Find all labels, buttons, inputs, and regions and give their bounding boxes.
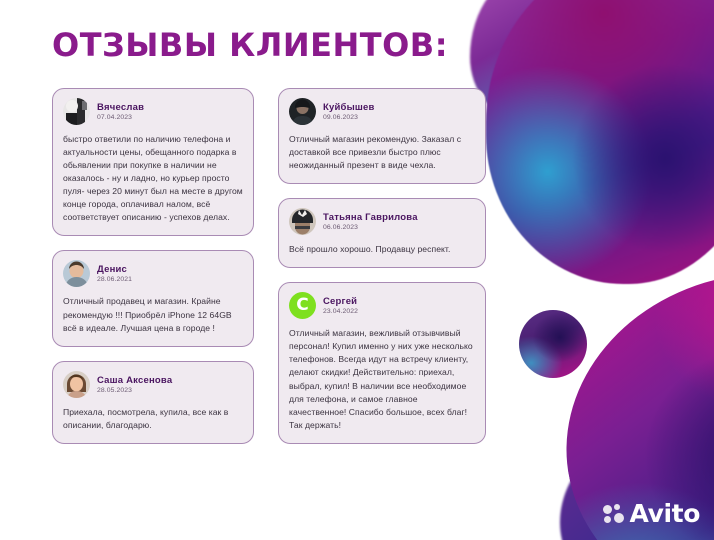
review-date: 07.04.2023 bbox=[97, 114, 144, 121]
avatar-photo-vyacheslav bbox=[63, 98, 90, 125]
gradient-blob-top-tail bbox=[470, 0, 580, 120]
review-date: 06.06.2023 bbox=[323, 224, 418, 231]
review-meta: Денис28.06.2021 bbox=[97, 264, 132, 283]
review-meta: Саша Аксенова28.05.2023 bbox=[97, 375, 172, 394]
review-header: Вячеслав07.04.2023 bbox=[63, 98, 243, 125]
page-title: ОТЗЫВЫ КЛИЕНТОВ: bbox=[52, 26, 448, 64]
review-card[interactable]: Татьяна Гаврилова06.06.2023Всё прошло хо… bbox=[278, 198, 486, 268]
review-meta: Сергей23.04.2022 bbox=[323, 296, 358, 315]
review-card[interactable]: Куйбышев09.06.2023Отличный магазин реком… bbox=[278, 88, 486, 184]
avatar-photo-kuybyshev bbox=[289, 98, 316, 125]
reviewer-name: Саша Аксенова bbox=[97, 375, 172, 386]
reviewer-name: Сергей bbox=[323, 296, 358, 307]
review-card[interactable]: Саша Аксенова28.05.2023Приехала, посмотр… bbox=[52, 361, 254, 444]
review-date: 28.05.2023 bbox=[97, 387, 172, 394]
review-text: Всё прошло хорошо. Продавцу респект. bbox=[289, 243, 475, 256]
review-header: Саша Аксенова28.05.2023 bbox=[63, 371, 243, 398]
review-header: Денис28.06.2021 bbox=[63, 260, 243, 287]
reviewer-name: Денис bbox=[97, 264, 132, 275]
avatar-photo-tatyana bbox=[289, 208, 316, 235]
review-date: 28.06.2021 bbox=[97, 276, 132, 283]
review-date: 23.04.2022 bbox=[323, 308, 358, 315]
reviewer-name: Куйбышев bbox=[323, 102, 375, 113]
review-text: Отличный магазин рекомендую. Заказал с д… bbox=[289, 133, 475, 172]
review-card[interactable]: Денис28.06.2021Отличный продавец и магаз… bbox=[52, 250, 254, 346]
reviewer-name: Вячеслав bbox=[97, 102, 144, 113]
gradient-circle-accent bbox=[519, 310, 587, 378]
avito-wordmark: Avito bbox=[630, 501, 700, 526]
review-meta: Куйбышев09.06.2023 bbox=[323, 102, 375, 121]
gradient-blob-bottom-right bbox=[535, 249, 714, 540]
review-card[interactable]: Вячеслав07.04.2023быстро ответили по нал… bbox=[52, 88, 254, 236]
avatar-initial: С bbox=[289, 292, 316, 319]
reviews-column-left: Вячеслав07.04.2023быстро ответили по нал… bbox=[52, 88, 254, 458]
review-text: Приехала, посмотрела, купила, все как в … bbox=[63, 406, 243, 432]
review-text: Отличный продавец и магазин. Крайне реко… bbox=[63, 295, 243, 334]
gradient-blob-top-right bbox=[486, 0, 714, 284]
review-header: ССергей23.04.2022 bbox=[289, 292, 475, 319]
reviews-column-right: Куйбышев09.06.2023Отличный магазин реком… bbox=[278, 88, 486, 458]
review-text: Отличный магазин, вежливый отзывчивый пе… bbox=[289, 327, 475, 432]
review-meta: Вячеслав07.04.2023 bbox=[97, 102, 144, 121]
review-date: 09.06.2023 bbox=[323, 114, 375, 121]
avatar-initial-sergey: С bbox=[289, 292, 316, 319]
reviews-page: ОТЗЫВЫ КЛИЕНТОВ: Вячеслав07.04.2023быстр… bbox=[0, 0, 714, 540]
avito-logo: Avito bbox=[603, 501, 700, 526]
review-meta: Татьяна Гаврилова06.06.2023 bbox=[323, 212, 418, 231]
avatar-photo-sasha bbox=[63, 371, 90, 398]
avito-dots-icon bbox=[603, 504, 625, 524]
avatar-photo-denis bbox=[63, 260, 90, 287]
review-card[interactable]: ССергей23.04.2022Отличный магазин, вежли… bbox=[278, 282, 486, 444]
review-header: Татьяна Гаврилова06.06.2023 bbox=[289, 208, 475, 235]
review-text: быстро ответили по наличию телефона и ак… bbox=[63, 133, 243, 224]
reviewer-name: Татьяна Гаврилова bbox=[323, 212, 418, 223]
review-header: Куйбышев09.06.2023 bbox=[289, 98, 475, 125]
